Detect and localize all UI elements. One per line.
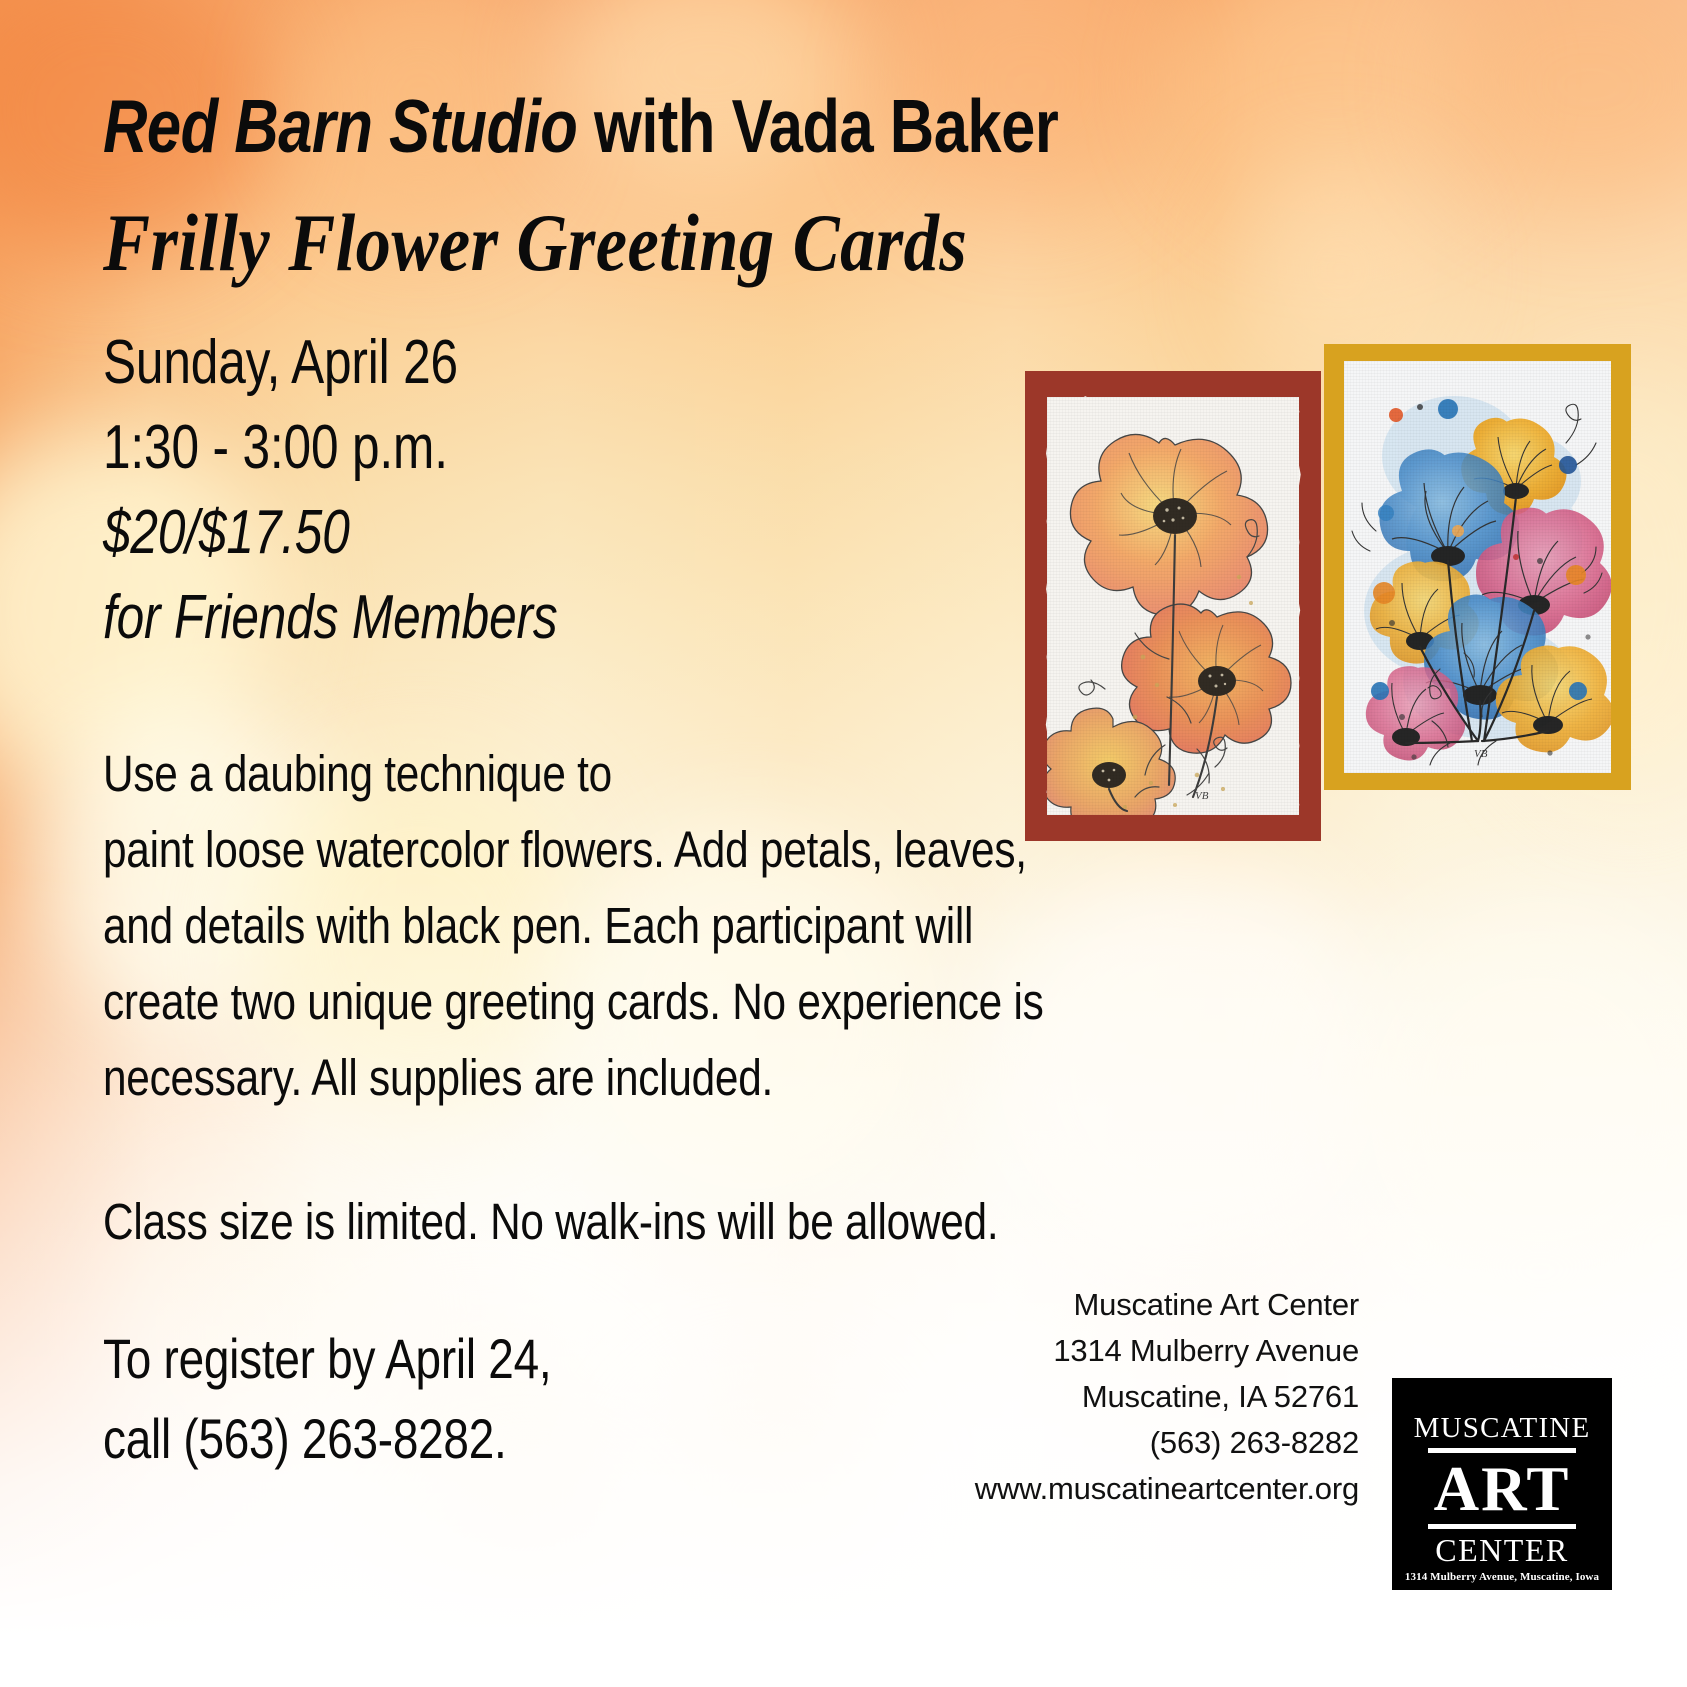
event-price-note: for Friends Members: [103, 582, 558, 653]
muscatine-art-center-logo: MUSCATINE ART CENTER 1314 Mulberry Avenu…: [1392, 1378, 1612, 1590]
logo-word-muscatine: MUSCATINE: [1392, 1412, 1612, 1445]
description-line: paint loose watercolor flowers. Add peta…: [103, 820, 1027, 879]
registration-line: call (563) 263-8282.: [103, 1406, 507, 1471]
page-title-studio: Red Barn Studio: [103, 84, 577, 168]
description-line: and details with black pen. Each partici…: [103, 896, 973, 955]
logo-rule-top: [1428, 1448, 1576, 1453]
description-line: create two unique greeting cards. No exp…: [103, 972, 1044, 1031]
event-flyer: VB: [0, 0, 1687, 1687]
registration-line: To register by April 24,: [103, 1326, 551, 1391]
contact-street: 1314 Mulberry Avenue: [959, 1328, 1359, 1374]
description-line: Use a daubing technique to: [103, 744, 612, 803]
contact-org-name: Muscatine Art Center: [959, 1282, 1359, 1328]
contact-block: Muscatine Art Center 1314 Mulberry Avenu…: [959, 1282, 1359, 1512]
contact-city-state-zip: Muscatine, IA 52761: [959, 1374, 1359, 1420]
logo-rule-bottom: [1428, 1524, 1576, 1529]
class-limit-notice: Class size is limited. No walk-ins will …: [103, 1192, 998, 1251]
page-title-instructor: with Vada Baker: [577, 84, 1058, 168]
page-title: Red Barn Studio with Vada Baker: [103, 83, 1058, 169]
event-date: Sunday, April 26: [103, 327, 458, 398]
page-subtitle: Frilly Flower Greeting Cards: [103, 196, 967, 290]
contact-phone: (563) 263-8282: [959, 1420, 1359, 1466]
logo-word-art: ART: [1392, 1457, 1612, 1521]
description-line: necessary. All supplies are included.: [103, 1048, 773, 1107]
event-time: 1:30 - 3:00 p.m.: [103, 412, 448, 483]
flyer-text-content: Red Barn Studio with Vada Baker Frilly F…: [0, 0, 1687, 1687]
logo-address: 1314 Mulberry Avenue, Muscatine, Iowa: [1392, 1569, 1612, 1585]
logo-word-center: CENTER: [1392, 1533, 1612, 1568]
contact-website[interactable]: www.muscatineartcenter.org: [959, 1466, 1359, 1512]
event-price: $20/$17.50: [103, 497, 350, 568]
